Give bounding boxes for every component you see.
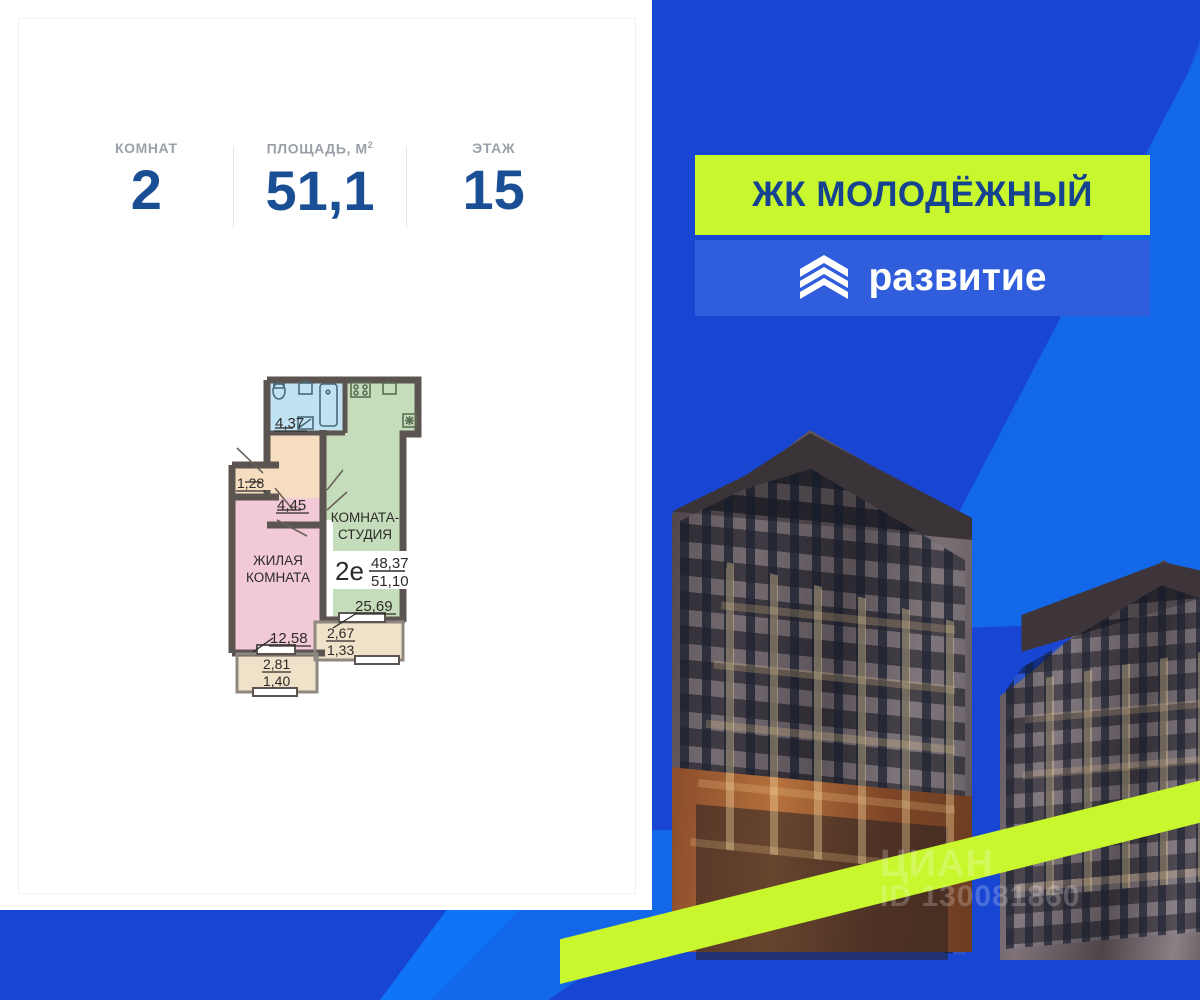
stat-rooms-label: КОМНАТ [60,140,233,156]
fp-studio-name-2: СТУДИЯ [338,527,392,542]
fp-closet-area: 1,28 [237,475,264,491]
fp-balcony-bottom-b: 1,40 [263,673,290,689]
fp-corridor-area: 4,45 [277,497,306,514]
logo-block: ЖК МОЛОДЁЖНЫЙ развитие [695,155,1150,316]
stat-area-label: ПЛОЩАДЬ, М2 [234,140,407,157]
fp-studio-name-1: КОМНАТА- [331,510,399,525]
stat-rooms-value: 2 [60,162,233,218]
fp-balcony-right-b: 1,33 [327,642,354,658]
fp-living-area: 12,58 [270,630,308,647]
watermark-brand: ЦИАН [880,845,1081,885]
apartment-info-card: КОМНАТ 2 ПЛОЩАДЬ, М2 51,1 ЭТАЖ 15 [0,0,652,910]
watermark: ЦИАН ID 130081860 [880,845,1081,912]
complex-name-banner: ЖК МОЛОДЁЖНЫЙ [695,155,1150,235]
developer-bar: развитие [695,240,1150,316]
stat-floor-value: 15 [407,162,580,218]
fp-balcony-bottom-a: 2,81 [263,656,290,672]
fp-living-name-2: КОМНАТА [246,570,310,585]
fp-badge-type: 2е [335,556,364,586]
fp-bathroom-area: 4,37 [275,415,304,432]
stat-area-label-sup: 2 [368,140,374,150]
stats-row: КОМНАТ 2 ПЛОЩАДЬ, М2 51,1 ЭТАЖ 15 [60,140,580,250]
chevrons-up-icon [798,253,850,304]
stat-area-value: 51,1 [234,163,407,219]
fp-badge-total: 51,10 [371,573,409,590]
complex-name-text: ЖК МОЛОДЁЖНЫЙ [752,175,1093,215]
fp-studio-area: 25,69 [355,598,393,615]
watermark-id: ID 130081860 [880,881,1081,913]
stat-area-label-text: ПЛОЩАДЬ, М [267,141,368,157]
stat-floor-label: ЭТАЖ [407,140,580,156]
stat-area: ПЛОЩАДЬ, М2 51,1 [234,140,407,219]
developer-name-text: развитие [868,256,1046,300]
fp-badge-living: 48,37 [371,555,409,572]
stat-floor: ЭТАЖ 15 [407,140,580,218]
floor-plan: 4,37 4,45 1,28 ЖИЛАЯ КОМНАТА 12,58 КОМНА… [215,370,445,740]
fp-balcony-right-a: 2,67 [327,625,354,641]
fp-living-name-1: ЖИЛАЯ [253,553,303,568]
stat-rooms: КОМНАТ 2 [60,140,233,218]
